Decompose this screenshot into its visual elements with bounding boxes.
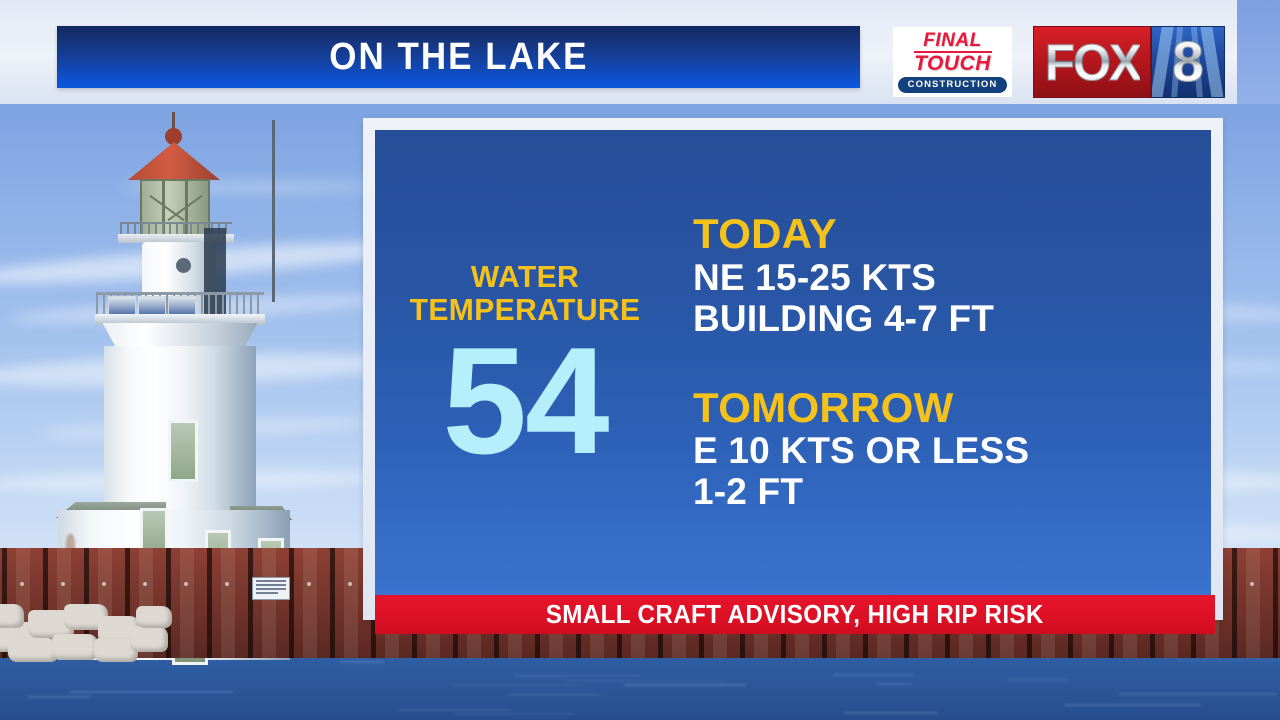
- title-banner: ON THE LAKE: [57, 26, 860, 88]
- rock: [136, 606, 172, 628]
- tower-window: [168, 420, 198, 482]
- sponsor-logo-line3: CONSTRUCTION: [898, 77, 1008, 93]
- wave-highlight: [455, 713, 575, 715]
- fox-blue-panel: 8: [1151, 26, 1225, 98]
- wave-highlight: [624, 684, 746, 686]
- wave-highlight: [844, 712, 938, 714]
- water-temperature-label-line1: WATER: [410, 261, 641, 293]
- breakwall-bolt: [143, 582, 147, 586]
- station-logo-fox8[interactable]: FOX 8: [1033, 26, 1225, 98]
- breakwall-bolt: [225, 582, 229, 586]
- light-ray: [1151, 27, 1174, 98]
- sponsor-logo-final-touch[interactable]: FINAL TOUCH CONSTRUCTION: [893, 27, 1012, 97]
- channel-number: 8: [1172, 34, 1204, 91]
- breakwall-highlight: [262, 548, 276, 658]
- breakwall-bolt: [307, 582, 311, 586]
- rock: [52, 634, 98, 660]
- lantern-roof: [128, 142, 220, 180]
- solar-panel: [138, 296, 166, 316]
- solar-panel: [168, 296, 196, 316]
- forecast-tomorrow-day: TOMORROW: [693, 386, 1211, 431]
- forecast-tomorrow: TOMORROW E 10 KTS OR LESS 1-2 FT: [693, 386, 1211, 513]
- breakwall-rib: [330, 548, 335, 658]
- breakwall-bolt: [1250, 582, 1254, 586]
- porthole-window: [176, 258, 191, 273]
- breakwall-rib: [248, 548, 253, 658]
- broadcast-weather-graphic: ON THE LAKE FINAL TOUCH CONSTRUCTION FOX…: [0, 0, 1280, 720]
- breakwall-bolt: [348, 582, 352, 586]
- breakwall-highlight: [1246, 548, 1260, 658]
- rock: [8, 638, 58, 662]
- breakwall-bolt: [20, 582, 24, 586]
- breakwall-bolt: [61, 582, 65, 586]
- page-title: ON THE LAKE: [329, 36, 588, 79]
- lighthouse: [0, 110, 360, 580]
- water-temperature-value: 54: [442, 332, 607, 472]
- breakwall-rib: [289, 548, 294, 658]
- wave-highlight: [514, 675, 640, 677]
- forecast-tomorrow-wind: E 10 KTS OR LESS: [693, 430, 1211, 471]
- antenna-mast: [272, 120, 275, 302]
- wave-highlight: [1119, 693, 1278, 695]
- sponsor-logo-line2: TOUCH: [914, 53, 991, 74]
- wave-highlight: [562, 680, 727, 682]
- breakwall-rib: [1232, 548, 1237, 658]
- sponsor-logo-line1: FINAL: [923, 31, 981, 50]
- forecast-today-day: TODAY: [693, 212, 1211, 257]
- wave-highlight: [1064, 704, 1201, 706]
- solar-panel: [108, 296, 136, 316]
- forecast-tomorrow-waves: 1-2 FT: [693, 471, 1211, 512]
- wave-highlight: [69, 691, 234, 693]
- forecast-today-wind: NE 15-25 KTS: [693, 257, 1211, 298]
- wave-highlight: [1178, 659, 1280, 661]
- breakwall-highlight: [221, 548, 235, 658]
- forecast-today-waves: BUILDING 4-7 FT: [693, 298, 1211, 339]
- breakwall-sign: [252, 577, 290, 600]
- riprap-rocks: [0, 600, 190, 662]
- info-panel-content: WATER TEMPERATURE 54 TODAY NE 15-25 KTS …: [375, 130, 1211, 595]
- forecast-block: TODAY NE 15-25 KTS BUILDING 4-7 FT TOMOR…: [675, 130, 1211, 595]
- water-temperature-label: WATER TEMPERATURE: [410, 261, 641, 325]
- breakwall-bolt: [102, 582, 106, 586]
- wave-highlight: [28, 696, 91, 698]
- breakwall-bolt: [184, 582, 188, 586]
- advisory-bar: SMALL CRAFT ADVISORY, HIGH RIP RISK: [375, 595, 1215, 634]
- advisory-text: SMALL CRAFT ADVISORY, HIGH RIP RISK: [546, 599, 1044, 630]
- water-temperature-label-line2: TEMPERATURE: [410, 294, 641, 326]
- wave-highlight: [340, 661, 384, 663]
- header-band-right-edge: [1237, 0, 1280, 104]
- wave-highlight: [452, 684, 584, 686]
- breakwall-rib: [1273, 548, 1278, 658]
- wave-highlight: [398, 709, 512, 711]
- breakwall-highlight: [344, 548, 358, 658]
- wave-highlight: [1007, 679, 1069, 681]
- wave-highlight: [510, 694, 600, 696]
- breakwall-highlight: [303, 548, 317, 658]
- wave-highlight: [876, 683, 912, 685]
- water-temperature-block: WATER TEMPERATURE 54: [375, 130, 675, 595]
- forecast-today: TODAY NE 15-25 KTS BUILDING 4-7 FT: [693, 212, 1211, 339]
- rock: [130, 626, 168, 652]
- rock: [0, 604, 24, 628]
- breakwall-rib: [207, 548, 212, 658]
- fox-wordmark: FOX: [1045, 37, 1140, 88]
- wave-highlight: [833, 674, 915, 676]
- fox-red-panel: FOX: [1033, 26, 1151, 98]
